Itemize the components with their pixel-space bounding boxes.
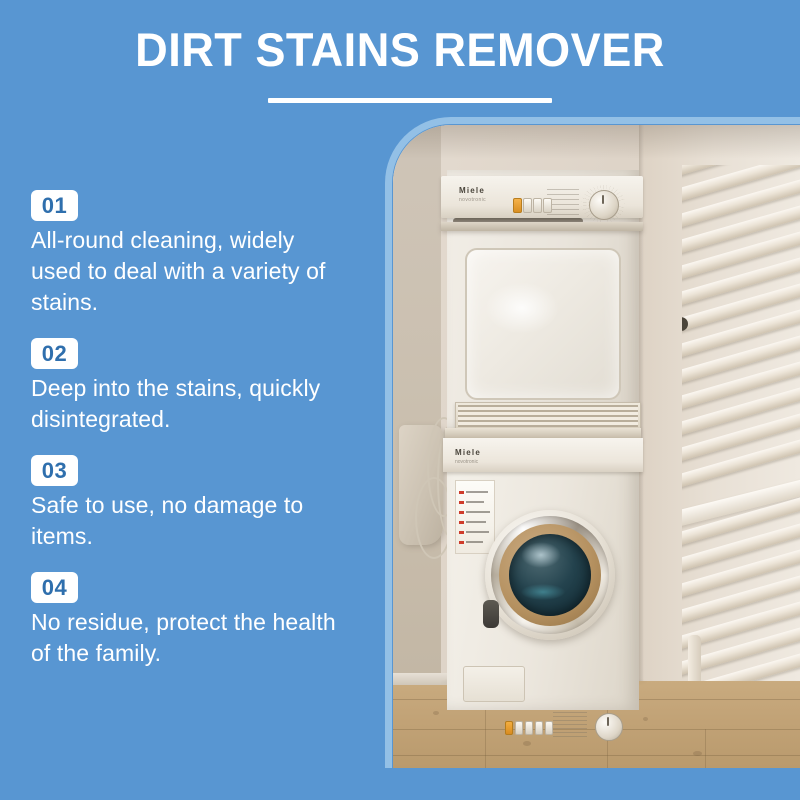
dryer-submark-label: novotronic (459, 197, 486, 203)
feature-text-03: Safe to use, no damage to items. (31, 490, 343, 552)
dryer-ledge (441, 222, 643, 231)
dryer-indicator-lamp-2 (523, 198, 532, 213)
feature-badge-04: 04 (31, 572, 78, 603)
feature-item-01: 01 All-round cleaning, widely used to de… (0, 190, 380, 318)
washer-button-3 (525, 721, 533, 735)
washer-door-handle[interactable] (483, 600, 499, 628)
dryer-door-highlight (485, 282, 559, 334)
washer-detergent-drawer[interactable] (463, 666, 525, 702)
dryer-indicator-lamp-1 (513, 198, 522, 213)
feature-badge-01: 01 (31, 190, 78, 221)
feature-text-04: No residue, protect the health of the fa… (31, 607, 343, 669)
vent-grille (455, 402, 641, 430)
washer-door-glass-highlight (521, 542, 561, 568)
feature-badge-03: 03 (31, 455, 78, 486)
washer-program-legend (553, 712, 587, 738)
washer-button-4 (535, 721, 543, 735)
washer-button-1 (505, 721, 513, 735)
towel-rail-radiator (682, 165, 800, 745)
washer-drum-interior-glow (521, 584, 565, 600)
feature-badge-02: 02 (31, 338, 78, 369)
feature-list: 01 All-round cleaning, widely used to de… (0, 190, 380, 689)
infographic-canvas: DIRT STAINS REMOVER 01 All-round cleanin… (0, 0, 800, 800)
washer-program-dial (595, 713, 623, 741)
vent-grille-slats (458, 405, 638, 427)
dryer-indicator-lamp-4 (543, 198, 552, 213)
product-photo-panel: Miele novotronic (393, 125, 800, 768)
feature-item-04: 04 No residue, protect the health of the… (0, 572, 380, 669)
feature-item-02: 02 Deep into the stains, quickly disinte… (0, 338, 380, 435)
feature-text-02: Deep into the stains, quickly disintegra… (31, 373, 343, 435)
dryer-brand-label: Miele (459, 186, 485, 195)
feature-text-01: All-round cleaning, widely used to deal … (31, 225, 343, 318)
header: DIRT STAINS REMOVER (0, 0, 800, 120)
dryer-indicator-lamp-3 (533, 198, 542, 213)
washer-button-5 (545, 721, 553, 735)
washer-button-2 (515, 721, 523, 735)
stacked-appliances: Miele novotronic (441, 170, 643, 710)
washer-brand-label: Miele (455, 448, 481, 457)
washer-program-sticker (455, 480, 495, 554)
page-title: DIRT STAINS REMOVER (16, 22, 784, 78)
feature-item-03: 03 Safe to use, no damage to items. (0, 455, 380, 552)
ceiling-shadow (393, 125, 800, 159)
appliance-shelf (445, 428, 641, 438)
title-divider (268, 98, 552, 103)
wall-left (393, 125, 441, 700)
dryer-program-dial (589, 190, 619, 220)
laundry-room-photo: Miele novotronic (393, 125, 800, 768)
washer-submark-label: novotronic (455, 459, 478, 465)
